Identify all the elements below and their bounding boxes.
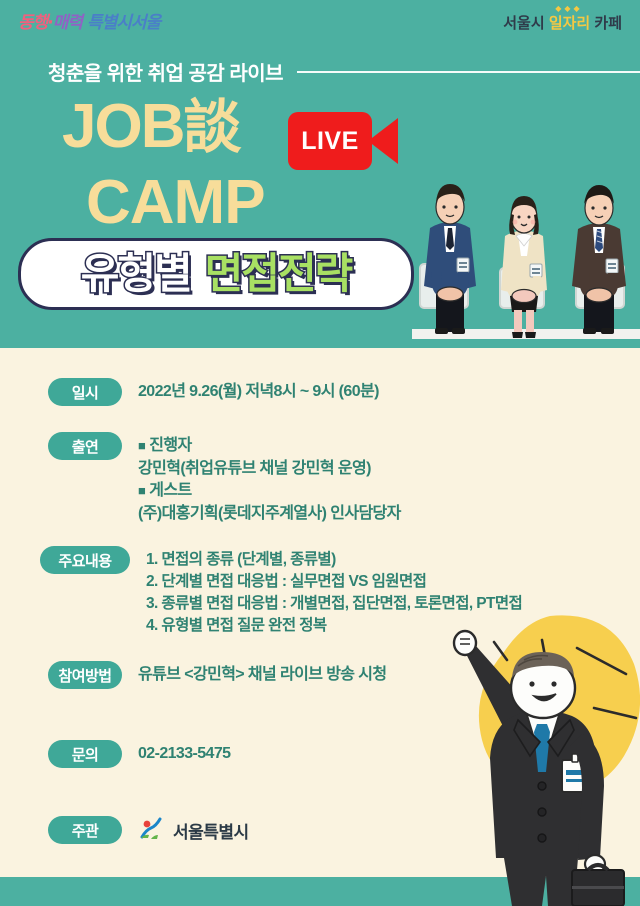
sparkle-dots-icon: ◆◆◆ [555,4,582,13]
bullet-square-icon: ■ [138,438,145,453]
live-badge-label: LIVE [288,112,372,170]
title-dam-kanji: 談 [183,93,239,161]
candidate-left [424,184,476,334]
organizer-value-wrap: 서울특별시 [138,816,249,843]
cast-guest-heading: 게스트 [149,482,191,499]
video-camera-lens-icon [368,118,398,164]
label-participation: 참여방법 [48,661,122,689]
cast-host-name: 강민혁(취업유튜브 채널 강민혁 운영) [138,458,401,481]
interviewees-illustration [412,172,640,352]
brand-logo-part1: 동행 [18,13,47,33]
info-row-participation: 참여방법 유튜브 <강민혁> 채널 라이브 방송 시청 [48,661,387,689]
bullet-square-icon: ■ [138,483,145,498]
value-inquiry: 02-2133-5475 [138,740,230,766]
label-organizer: 주관 [48,816,122,844]
brand-logo-part2: 매력 [53,13,82,33]
poster-subtitle: 청춘을 위한 취업 공감 라이브 [48,57,283,86]
live-badge: LIVE [288,112,398,170]
candidate-right [572,185,626,334]
briefcase-icon [572,865,624,906]
label-cast: 출연 [48,432,122,460]
seoul-city-emblem-icon [138,817,164,843]
eye-right [551,681,556,686]
seoul-brand-logo: 동행·매력 특별시서울 [18,8,218,42]
candidate-center [501,196,547,338]
value-participation: 유튜브 <강민혁> 채널 라이브 방송 시청 [138,661,387,687]
organizer-name: 서울특별시 [173,818,249,843]
poster-title-line1: JOB談 [62,97,240,157]
fist-icon [454,631,476,655]
label-date: 일시 [48,378,122,406]
job-cafe-highlight: 일자리 [549,15,590,32]
content-item: 1. 면접의 종류 (단계별, 종류별) [146,549,522,571]
value-cast: ■진행자 강민혁(취업유튜브 채널 강민혁 운영) ■게스트 (주)대홍기획(롯… [138,432,401,526]
content-item: 2. 단계별 면접 대응법 : 실무면접 VS 임원면접 [146,571,522,593]
cast-guest-heading-line: ■게스트 [138,480,401,503]
job-cafe-prefix: 서울시 [503,15,544,32]
info-row-date: 일시 2022년 9.26(월) 저녁8시 ~ 9시 (60분) [48,378,379,406]
cheering-businessman-illustration [432,612,640,906]
brand-logo-part3: 특별시 [87,13,131,33]
cast-guest-name: (주)대홍기획(롯데지주계열사) 인사담당자 [138,503,401,526]
subtitle-row: 청춘을 위한 취업 공감 라이브 [48,57,640,86]
cast-host-heading-line: ■진행자 [138,435,401,458]
info-row-organizer: 주관 서울특별시 [48,816,249,844]
eye-left [529,681,534,686]
job-cafe-label: ◆◆◆서울시 일자리 카페 [503,12,622,33]
legs [504,858,578,906]
label-inquiry: 문의 [48,740,122,768]
subtitle-divider [297,71,640,73]
info-row-cast: 출연 ■진행자 강민혁(취업유튜브 채널 강민혁 운영) ■게스트 (주)대홍기… [48,432,401,526]
label-contents: 주요내용 [40,546,130,574]
brand-logo-part4: 서울 [131,13,160,33]
headline-word-strategy: 면접전략 [205,253,352,295]
headline-pill: 유형별 면접전략 [18,238,414,310]
info-row-inquiry: 문의 02-2133-5475 [48,740,230,768]
value-date: 2022년 9.26(월) 저녁8시 ~ 9시 (60분) [138,378,379,404]
cast-host-heading: 진행자 [149,437,191,454]
headline-word-type: 유형별 [81,253,191,295]
event-poster: 동행·매력 특별시서울 ◆◆◆서울시 일자리 카페 청춘을 위한 취업 공감 라… [0,0,640,906]
title-job: JOB [62,92,183,161]
job-cafe-suffix: 카페 [594,15,622,32]
poster-title-line2: CAMP [86,172,265,234]
